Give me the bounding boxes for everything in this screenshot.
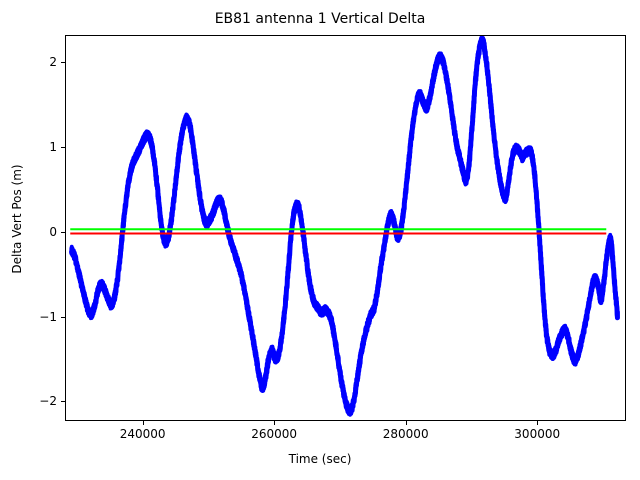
y-tick-mark: [61, 317, 65, 318]
x-tick-mark: [143, 421, 144, 425]
axes-frame: [65, 35, 626, 421]
y-tick-label: 0: [0, 226, 57, 238]
y-tick-label: 1: [0, 141, 57, 153]
x-tick-label: 300000: [477, 428, 597, 440]
y-tick-mark: [61, 401, 65, 402]
x-tick-mark: [274, 421, 275, 425]
y-tick-mark: [61, 232, 65, 233]
x-tick-label: 280000: [346, 428, 466, 440]
page-title: EB81 antenna 1 Vertical Delta: [0, 10, 640, 28]
matplotlib-figure: EB81 antenna 1 Vertical Delta 210−1−2 24…: [0, 0, 640, 480]
y-axis-label: Delta Vert Pos (m): [10, 119, 24, 319]
x-axis-label: Time (sec): [0, 452, 640, 466]
x-tick-mark: [406, 421, 407, 425]
y-tick-mark: [61, 62, 65, 63]
x-tick-mark: [537, 421, 538, 425]
y-tick-mark: [61, 147, 65, 148]
x-tick-label: 240000: [83, 428, 203, 440]
y-tick-label: −1: [0, 311, 57, 323]
y-tick-label: 2: [0, 56, 57, 68]
x-tick-label: 260000: [214, 428, 334, 440]
y-tick-label: −2: [0, 395, 57, 407]
